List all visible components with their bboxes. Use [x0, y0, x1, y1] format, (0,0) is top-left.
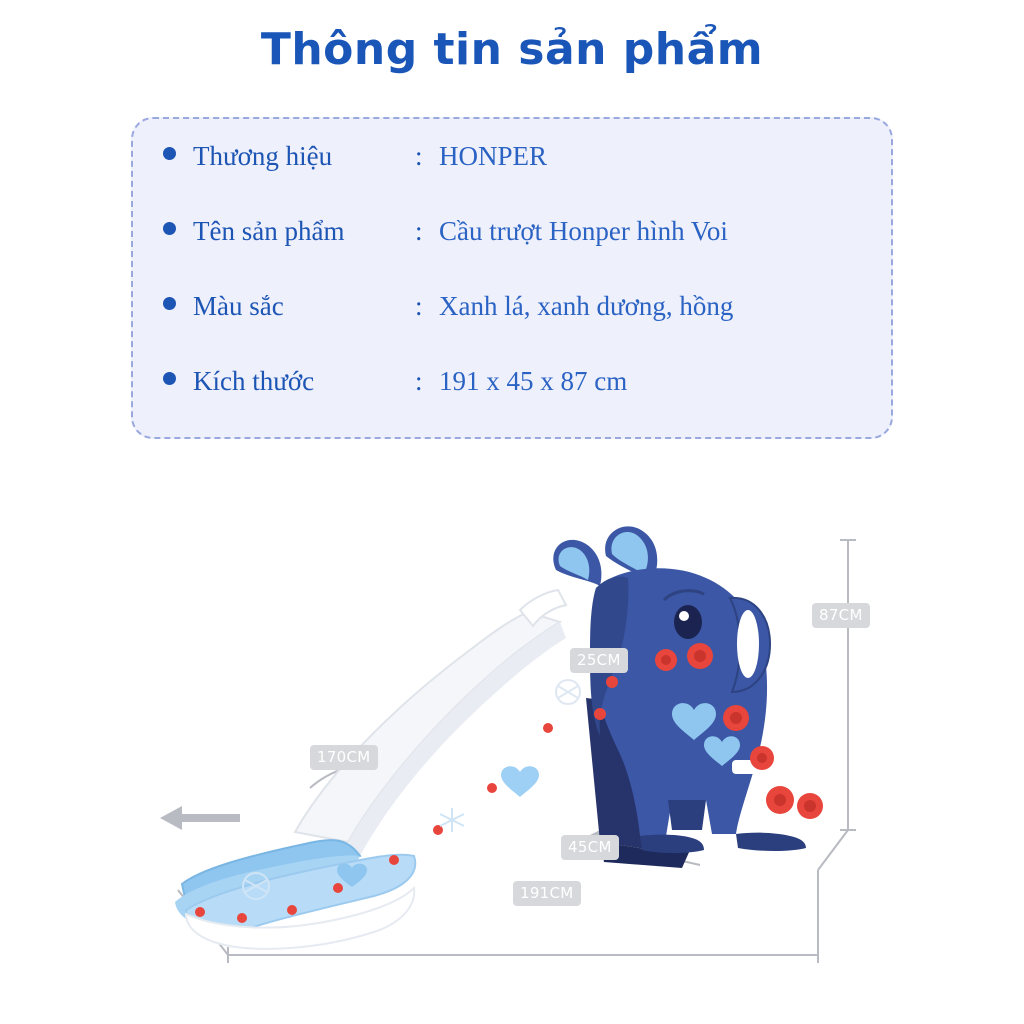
spec-label: Màu sắc — [193, 291, 415, 322]
dimension-tag-slide-length: 170CM — [310, 745, 378, 770]
spec-separator: : — [415, 216, 439, 247]
product-photo: 170CM 25CM 87CM 45CM 191CM — [0, 470, 1024, 1024]
bullet-icon — [163, 222, 176, 235]
bullet-icon — [163, 297, 176, 310]
snowflake-icon — [440, 808, 464, 832]
spec-value: HONPER — [439, 141, 547, 172]
spec-separator: : — [415, 366, 439, 397]
list-item: Màu sắc : Xanh lá, xanh dương, hồng — [163, 291, 863, 366]
spec-value: 191 x 45 x 87 cm — [439, 366, 627, 397]
list-item: Kích thước : 191 x 45 x 87 cm — [163, 366, 863, 441]
spec-value: Cầu trượt Honper hình Voi — [439, 216, 728, 247]
product-info-page: Thông tin sản phẩm Thương hiệu : HONPER … — [0, 0, 1024, 1024]
elephant-eye — [674, 605, 702, 639]
spec-label: Thương hiệu — [193, 141, 415, 172]
dimension-tag-depth: 45CM — [561, 835, 619, 860]
dimension-tag-total-length: 191CM — [513, 881, 581, 906]
direction-arrow-icon — [160, 806, 240, 830]
spec-value: Xanh lá, xanh dương, hồng — [439, 291, 733, 322]
spec-separator: : — [415, 291, 439, 322]
bullet-icon — [163, 147, 176, 160]
wheel-icon-2 — [556, 680, 580, 704]
specification-box: Thương hiệu : HONPER Tên sản phẩm : Cầu … — [131, 117, 893, 439]
page-title: Thông tin sản phẩm — [0, 24, 1024, 75]
dimension-tag-height: 87CM — [812, 603, 870, 628]
spec-separator: : — [415, 141, 439, 172]
slide-ramp — [295, 612, 560, 842]
spec-label: Kích thước — [193, 366, 415, 397]
list-item: Thương hiệu : HONPER — [163, 141, 863, 216]
product-illustration — [0, 470, 1024, 1024]
list-item: Tên sản phẩm : Cầu trượt Honper hình Voi — [163, 216, 863, 291]
elephant-body — [553, 526, 823, 853]
bullet-icon — [163, 372, 176, 385]
spec-label: Tên sản phẩm — [193, 216, 415, 247]
dimension-tag-seat-width: 25CM — [570, 648, 628, 673]
specification-list: Thương hiệu : HONPER Tên sản phẩm : Cầu … — [163, 141, 863, 441]
